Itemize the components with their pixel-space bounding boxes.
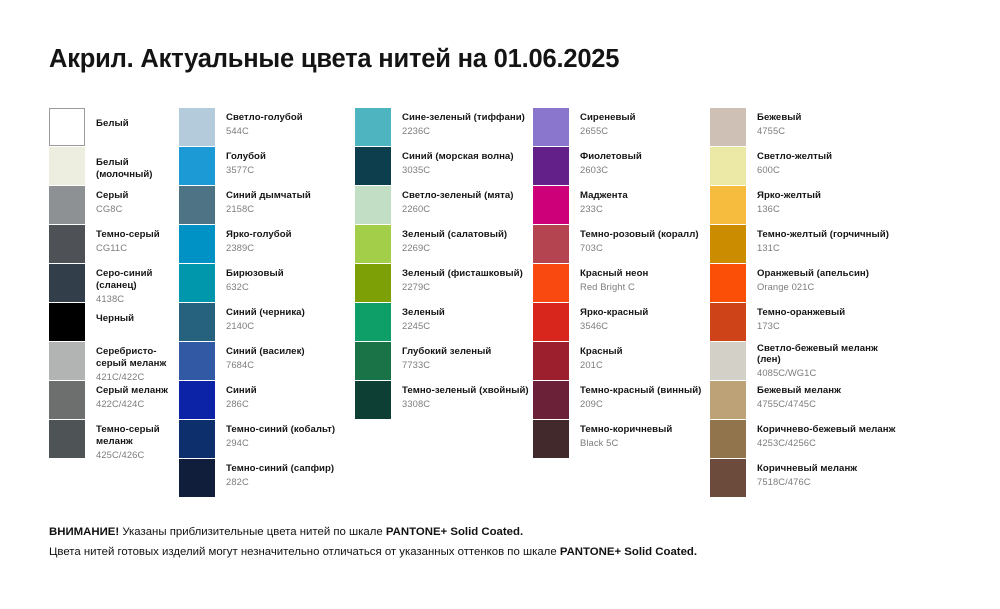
color-swatch[interactable] — [533, 108, 569, 146]
color-column-greens: Сине-зеленый (тиффани)2236CСиний (морска… — [355, 108, 533, 498]
color-label-group: Бирюзовый632C — [215, 264, 284, 293]
color-swatch[interactable] — [179, 108, 215, 146]
color-pantone-code: 294C — [226, 437, 335, 449]
color-name: Темно-красный (винный) — [580, 385, 701, 397]
color-label-group: Темно-розовый (коралл)703C — [569, 225, 699, 254]
color-name: Ярко-красный — [580, 307, 648, 319]
color-swatch-row[interactable]: Сине-зеленый (тиффани)2236C — [355, 108, 533, 147]
color-swatch[interactable] — [533, 264, 569, 302]
color-swatch[interactable] — [710, 420, 746, 458]
color-name: Темно-оранжевый — [757, 307, 845, 319]
color-label-group: СерыйCG8C — [85, 186, 128, 215]
color-swatch-row[interactable]: Темно-зеленый (хвойный)3308C — [355, 381, 533, 420]
color-chart-page: Акрил. Актуальные цвета нитей на 01.06.2… — [0, 0, 1000, 609]
color-swatch[interactable] — [710, 186, 746, 224]
color-swatch[interactable] — [533, 381, 569, 419]
color-label-group: Зеленый2245C — [391, 303, 445, 332]
color-name: Белый (молочный) — [96, 151, 178, 180]
color-name: Красный — [580, 346, 623, 358]
color-swatch[interactable] — [355, 342, 391, 380]
color-name: Красный неон — [580, 268, 648, 280]
color-swatch-row[interactable]: Черный — [49, 303, 178, 342]
color-swatch[interactable] — [533, 342, 569, 380]
page-title: Акрил. Актуальные цвета нитей на 01.06.2… — [49, 45, 619, 74]
color-columns: БелыйБелый (молочный)СерыйCG8CТемно-серы… — [0, 108, 1000, 498]
color-label-group: Сине-зеленый (тиффани)2236C — [391, 108, 525, 137]
color-label-group: Темно-оранжевый173C — [746, 303, 845, 332]
color-swatch-row[interactable]: Зеленый (салатовый)2269C — [355, 225, 533, 264]
color-swatch[interactable] — [710, 108, 746, 146]
color-swatch[interactable] — [710, 381, 746, 419]
color-pantone-code: 4085C/WG1C — [757, 367, 900, 379]
color-swatch-row[interactable]: Маджента233C — [533, 186, 710, 225]
color-pantone-code: 7684C — [226, 359, 305, 371]
color-name: Светло-бежевый меланж (лен) — [757, 343, 900, 365]
color-label-group: Коричневый меланж7518C/476C — [746, 459, 857, 488]
color-label-group: Ярко-голубой2389C — [215, 225, 292, 254]
color-swatch[interactable] — [49, 342, 85, 380]
color-swatch[interactable] — [710, 264, 746, 302]
color-swatch[interactable] — [355, 225, 391, 263]
color-pantone-code: 3308C — [402, 398, 529, 410]
color-swatch-row[interactable]: Светло-бежевый меланж (лен)4085C/WG1C — [710, 342, 900, 381]
color-name: Темно-синий (кобальт) — [226, 424, 335, 436]
color-swatch-row[interactable]: Бежевый4755C — [710, 108, 900, 147]
color-swatch[interactable] — [355, 381, 391, 419]
color-swatch[interactable] — [49, 147, 85, 185]
color-swatch-row[interactable]: Зеленый2245C — [355, 303, 533, 342]
color-swatch-row[interactable]: Темно-серый меланж425C/426C — [49, 420, 178, 459]
color-name: Темно-розовый (коралл) — [580, 229, 699, 241]
color-pantone-code: 2260C — [402, 203, 514, 215]
color-pantone-code: 600C — [757, 164, 832, 176]
color-swatch-row[interactable]: Белый (молочный) — [49, 147, 178, 186]
color-swatch[interactable] — [355, 108, 391, 146]
footer-line-2-text: Цвета нитей готовых изделий могут незнач… — [49, 546, 560, 558]
color-swatch-row[interactable]: Фиолетовый2603C — [533, 147, 710, 186]
color-swatch[interactable] — [49, 186, 85, 224]
color-swatch[interactable] — [179, 342, 215, 380]
color-label-group: Коричнево-бежевый меланж4253C/4256C — [746, 420, 895, 449]
color-pantone-code: CG8C — [96, 203, 128, 215]
color-name: Синий — [226, 385, 257, 397]
color-pantone-code: 2269C — [402, 242, 507, 254]
color-name: Синий (василек) — [226, 346, 305, 358]
color-swatch[interactable] — [49, 420, 85, 458]
color-label-group: Темно-серыйCG11C — [85, 225, 160, 254]
color-label-group: Синий (василек)7684C — [215, 342, 305, 371]
color-pantone-code: 2389C — [226, 242, 292, 254]
color-swatch[interactable] — [355, 303, 391, 341]
color-label-group: Сиреневый2655C — [569, 108, 636, 137]
color-label-group: Синий дымчатый2158C — [215, 186, 311, 215]
color-label-group: Серебристо-серый меланж421C/422C — [85, 342, 178, 382]
color-swatch-row[interactable]: Светло-желтый600C — [710, 147, 900, 186]
color-label-group: Глубокий зеленый7733C — [391, 342, 491, 371]
color-name: Сиреневый — [580, 112, 636, 124]
color-name: Зеленый (фисташковый) — [402, 268, 523, 280]
color-swatch-row[interactable]: Сиреневый2655C — [533, 108, 710, 147]
color-name: Зеленый — [402, 307, 445, 319]
color-pantone-code: 2236C — [402, 125, 525, 137]
color-swatch-row[interactable]: Ярко-голубой2389C — [179, 225, 355, 264]
color-label-group: Ярко-красный3546C — [569, 303, 648, 332]
color-pantone-code: 2140C — [226, 320, 305, 332]
color-pantone-code: 2245C — [402, 320, 445, 332]
color-swatch-row[interactable]: Голубой3577C — [179, 147, 355, 186]
color-label-group: Синий (морская волна)3035C — [391, 147, 514, 176]
color-swatch-row[interactable]: Темно-синий (кобальт)294C — [179, 420, 355, 459]
color-pantone-code: 7518C/476C — [757, 476, 857, 488]
color-pantone-code: 201C — [580, 359, 623, 371]
footer-notice: ВНИМАНИЕ! Указаны приблизительные цвета … — [49, 523, 949, 562]
color-name: Коричнево-бежевый меланж — [757, 424, 895, 436]
color-swatch[interactable] — [355, 264, 391, 302]
color-swatch-row[interactable]: Синий (черника)2140C — [179, 303, 355, 342]
color-name: Серо-синий (сланец) — [96, 268, 178, 291]
color-swatch[interactable] — [710, 147, 746, 185]
color-name: Темно-серый меланж — [96, 424, 178, 447]
color-label-group: Оранжевый (апельсин)Orange 021C — [746, 264, 869, 293]
color-pantone-code: 131C — [757, 242, 889, 254]
color-pantone-code: CG11C — [96, 242, 160, 254]
color-name: Темно-зеленый (хвойный) — [402, 385, 529, 397]
color-label-group: Зеленый (салатовый)2269C — [391, 225, 507, 254]
color-swatch[interactable] — [49, 381, 85, 419]
color-label-group: Белый (молочный) — [85, 147, 178, 180]
color-name: Ярко-желтый — [757, 190, 821, 202]
color-name: Темно-коричневый — [580, 424, 672, 436]
color-swatch[interactable] — [49, 108, 85, 146]
color-swatch-row[interactable]: Темно-желтый (горчичный)131C — [710, 225, 900, 264]
color-swatch[interactable] — [533, 420, 569, 458]
color-pantone-code: 136C — [757, 203, 821, 215]
color-label-group: Светло-голубой544C — [215, 108, 303, 137]
color-name: Серебристо-серый меланж — [96, 346, 178, 369]
color-swatch-row[interactable]: Ярко-красный3546C — [533, 303, 710, 342]
color-swatch[interactable] — [179, 147, 215, 185]
color-name: Темно-синий (сапфир) — [226, 463, 334, 475]
footer-line-1-text: Указаны приблизительные цвета нитей по ш… — [119, 526, 386, 538]
color-label-group: Черный — [85, 303, 134, 325]
color-name: Синий (черника) — [226, 307, 305, 319]
color-name: Светло-голубой — [226, 112, 303, 124]
color-pantone-code: 632C — [226, 281, 284, 293]
color-name: Серый меланж — [96, 385, 168, 397]
color-swatch-row[interactable]: Серо-синий (сланец)4138C — [49, 264, 178, 303]
color-name: Белый — [96, 112, 129, 130]
color-label-group: Темно-синий (сапфир)282C — [215, 459, 334, 488]
color-name: Темно-серый — [96, 229, 160, 241]
color-swatch-row[interactable]: Бирюзовый632C — [179, 264, 355, 303]
color-pantone-code: 3577C — [226, 164, 266, 176]
color-pantone-code: 2655C — [580, 125, 636, 137]
color-swatch[interactable] — [355, 186, 391, 224]
color-label-group: Ярко-желтый136C — [746, 186, 821, 215]
color-name: Бежевый меланж — [757, 385, 841, 397]
color-name: Серый — [96, 190, 128, 202]
color-swatch-row[interactable]: Красный201C — [533, 342, 710, 381]
color-pantone-code: 3546C — [580, 320, 648, 332]
footer-brand-2: PANTONE+ Solid Coated. — [560, 546, 697, 558]
color-name: Светло-желтый — [757, 151, 832, 163]
color-name: Фиолетовый — [580, 151, 642, 163]
color-pantone-code: 4253C/4256C — [757, 437, 895, 449]
color-label-group: Темно-коричневыйBlack 5C — [569, 420, 672, 449]
color-pantone-code: 4755C — [757, 125, 801, 137]
footer-brand-1: PANTONE+ Solid Coated. — [386, 526, 523, 538]
color-label-group: Красный неонRed Bright C — [569, 264, 648, 293]
color-swatch-row[interactable]: Серый меланж422C/424C — [49, 381, 178, 420]
color-swatch-row[interactable]: Синий дымчатый2158C — [179, 186, 355, 225]
color-swatch[interactable] — [49, 225, 85, 263]
color-label-group: Синий (черника)2140C — [215, 303, 305, 332]
color-swatch[interactable] — [710, 303, 746, 341]
footer-attention-label: ВНИМАНИЕ! — [49, 526, 119, 538]
color-pantone-code: 2158C — [226, 203, 311, 215]
color-column-beiges-yellows: Бежевый4755CСветло-желтый600CЯрко-желтый… — [710, 108, 900, 498]
color-label-group: Темно-желтый (горчичный)131C — [746, 225, 889, 254]
color-pantone-code: 233C — [580, 203, 628, 215]
color-swatch[interactable] — [49, 303, 85, 341]
color-pantone-code: 282C — [226, 476, 334, 488]
color-name: Черный — [96, 307, 134, 325]
color-swatch[interactable] — [533, 225, 569, 263]
color-name: Бирюзовый — [226, 268, 284, 280]
color-swatch-row[interactable]: Синий286C — [179, 381, 355, 420]
color-pantone-code: Red Bright C — [580, 281, 648, 293]
color-swatch[interactable] — [533, 186, 569, 224]
color-swatch-row[interactable]: Темно-розовый (коралл)703C — [533, 225, 710, 264]
color-pantone-code: 2279C — [402, 281, 523, 293]
color-swatch-row[interactable]: Серебристо-серый меланж421C/422C — [49, 342, 178, 381]
color-pantone-code: 703C — [580, 242, 699, 254]
color-label-group: Светло-желтый600C — [746, 147, 832, 176]
color-label-group: Маджента233C — [569, 186, 628, 215]
color-name: Бежевый — [757, 112, 801, 124]
color-label-group: Фиолетовый2603C — [569, 147, 642, 176]
color-name: Коричневый меланж — [757, 463, 857, 475]
color-pantone-code: Black 5C — [580, 437, 672, 449]
color-swatch[interactable] — [179, 264, 215, 302]
color-pantone-code: 209C — [580, 398, 701, 410]
color-swatch-row[interactable]: Зеленый (фисташковый)2279C — [355, 264, 533, 303]
color-swatch-row[interactable]: Темно-оранжевый173C — [710, 303, 900, 342]
color-label-group: Синий286C — [215, 381, 257, 410]
color-swatch[interactable] — [533, 303, 569, 341]
color-name: Зеленый (салатовый) — [402, 229, 507, 241]
color-swatch[interactable] — [49, 264, 85, 302]
color-label-group: Темно-зеленый (хвойный)3308C — [391, 381, 529, 410]
color-swatch-row[interactable]: Темно-серыйCG11C — [49, 225, 178, 264]
color-swatch[interactable] — [179, 381, 215, 419]
color-pantone-code: Orange 021C — [757, 281, 869, 293]
color-name: Голубой — [226, 151, 266, 163]
color-label-group: Темно-серый меланж425C/426C — [85, 420, 178, 460]
color-swatch[interactable] — [355, 147, 391, 185]
color-label-group: Голубой3577C — [215, 147, 266, 176]
color-swatch[interactable] — [179, 186, 215, 224]
color-label-group: Зеленый (фисташковый)2279C — [391, 264, 523, 293]
color-pantone-code: 7733C — [402, 359, 491, 371]
color-swatch-row[interactable]: Темно-красный (винный)209C — [533, 381, 710, 420]
color-name: Оранжевый (апельсин) — [757, 268, 869, 280]
color-pantone-code: 286C — [226, 398, 257, 410]
color-label-group: Темно-красный (винный)209C — [569, 381, 701, 410]
color-column-blues: Светло-голубой544CГолубой3577CСиний дымч… — [178, 108, 355, 498]
footer-line-1: ВНИМАНИЕ! Указаны приблизительные цвета … — [49, 523, 949, 543]
color-swatch[interactable] — [533, 147, 569, 185]
color-swatch[interactable] — [179, 459, 215, 497]
color-name: Маджента — [580, 190, 628, 202]
color-swatch-row[interactable]: СерыйCG8C — [49, 186, 178, 225]
color-pantone-code: 2603C — [580, 164, 642, 176]
color-label-group: Красный201C — [569, 342, 623, 371]
color-pantone-code: 4755C/4745C — [757, 398, 841, 410]
color-name: Синий дымчатый — [226, 190, 311, 202]
color-label-group: Темно-синий (кобальт)294C — [215, 420, 335, 449]
color-swatch-row[interactable]: Глубокий зеленый7733C — [355, 342, 533, 381]
color-label-group: Светло-зеленый (мята)2260C — [391, 186, 514, 215]
color-swatch-row[interactable]: Ярко-желтый136C — [710, 186, 900, 225]
color-name: Сине-зеленый (тиффани) — [402, 112, 525, 124]
color-swatch-row[interactable]: Синий (морская волна)3035C — [355, 147, 533, 186]
color-label-group: Серо-синий (сланец)4138C — [85, 264, 178, 304]
footer-line-2: Цвета нитей готовых изделий могут незнач… — [49, 543, 949, 563]
color-label-group: Белый — [85, 108, 129, 130]
color-swatch-row[interactable]: Светло-голубой544C — [179, 108, 355, 147]
color-name: Светло-зеленый (мята) — [402, 190, 514, 202]
color-swatch-row[interactable]: Оранжевый (апельсин)Orange 021C — [710, 264, 900, 303]
color-name: Глубокий зеленый — [402, 346, 491, 358]
color-swatch[interactable] — [179, 225, 215, 263]
color-swatch-row[interactable]: Светло-зеленый (мята)2260C — [355, 186, 533, 225]
color-swatch-row[interactable]: Коричнево-бежевый меланж4253C/4256C — [710, 420, 900, 459]
color-name: Ярко-голубой — [226, 229, 292, 241]
color-column-grayscale: БелыйБелый (молочный)СерыйCG8CТемно-серы… — [0, 108, 178, 498]
color-pantone-code: 425C/426C — [96, 449, 178, 461]
color-column-purples-reds: Сиреневый2655CФиолетовый2603CМаджента233… — [533, 108, 710, 498]
color-swatch-row[interactable]: Красный неонRed Bright C — [533, 264, 710, 303]
color-swatch[interactable] — [710, 459, 746, 497]
color-pantone-code: 173C — [757, 320, 845, 332]
color-swatch[interactable] — [179, 303, 215, 341]
color-swatch-row[interactable]: Темно-синий (сапфир)282C — [179, 459, 355, 498]
color-swatch-row[interactable]: Синий (василек)7684C — [179, 342, 355, 381]
color-swatch-row[interactable]: Белый — [49, 108, 178, 147]
color-pantone-code: 544C — [226, 125, 303, 137]
color-swatch-row[interactable]: Бежевый меланж4755C/4745C — [710, 381, 900, 420]
color-pantone-code: 422C/424C — [96, 398, 168, 410]
color-label-group: Бежевый4755C — [746, 108, 801, 137]
color-pantone-code: 3035C — [402, 164, 514, 176]
color-name: Синий (морская волна) — [402, 151, 514, 163]
color-swatch[interactable] — [710, 225, 746, 263]
color-swatch-row[interactable]: Коричневый меланж7518C/476C — [710, 459, 900, 498]
color-swatch[interactable] — [710, 342, 746, 380]
color-swatch[interactable] — [179, 420, 215, 458]
color-label-group: Бежевый меланж4755C/4745C — [746, 381, 841, 410]
color-label-group: Серый меланж422C/424C — [85, 381, 168, 410]
color-swatch-row[interactable]: Темно-коричневыйBlack 5C — [533, 420, 710, 459]
color-label-group: Светло-бежевый меланж (лен)4085C/WG1C — [746, 342, 900, 378]
color-name: Темно-желтый (горчичный) — [757, 229, 889, 241]
